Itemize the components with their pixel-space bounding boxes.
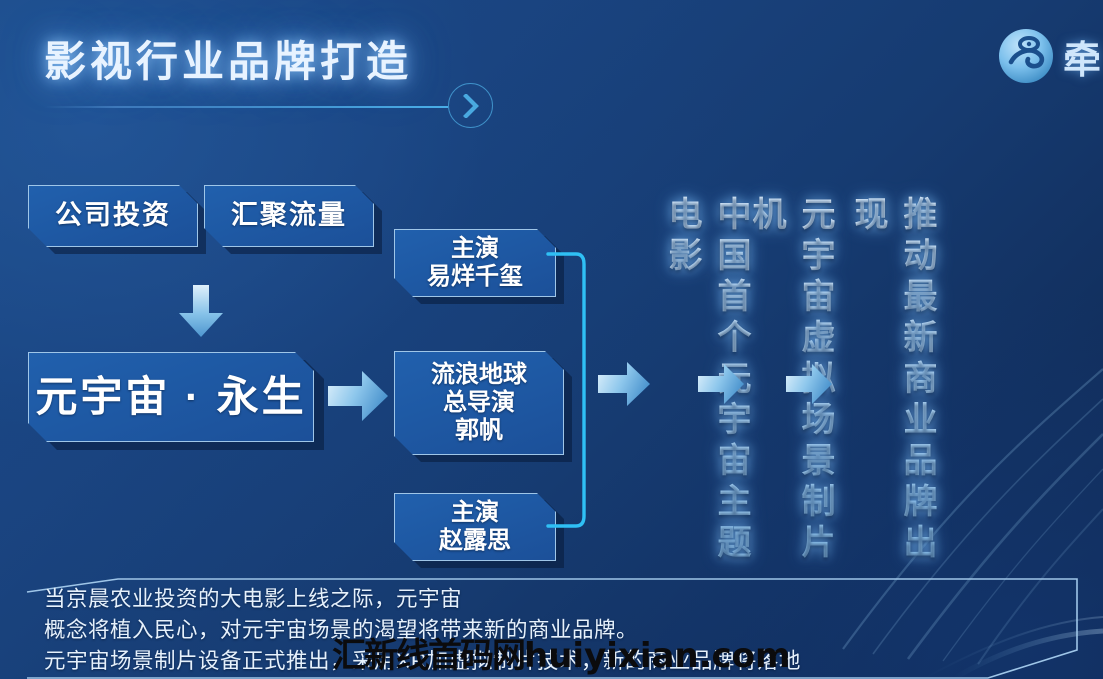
watermark-cn: 汇新线首码网 — [332, 636, 524, 676]
brand-logo: 牵 — [997, 27, 1103, 85]
flow-box-lead-actor-2[interactable]: 主演 赵露思 — [394, 493, 556, 561]
talent-line-1: 主演 — [451, 235, 499, 263]
watermark: 汇新线首码网huiyixian.com — [332, 628, 790, 677]
arrow-right-icon — [786, 362, 834, 406]
talent-line-2: 易烊千玺 — [427, 263, 523, 291]
slide-canvas: 影视行业品牌打造 牵 公司投资 汇聚流量 — [0, 0, 1103, 679]
arrow-right-icon — [328, 368, 390, 424]
talent-line-2: 赵露思 — [439, 527, 511, 555]
arrow-right-icon — [698, 362, 746, 406]
page-title: 影视行业品牌打造 — [44, 28, 412, 89]
flow-box-lead-actor-1[interactable]: 主演 易烊千玺 — [394, 229, 556, 297]
talent-line-1: 流浪地球 — [431, 361, 527, 389]
flow-box-traffic-aggregation[interactable]: 汇聚流量 — [204, 185, 374, 247]
talent-line-3: 郭帆 — [455, 417, 503, 445]
talent-line-2: 总导演 — [443, 389, 515, 417]
chevron-right-icon[interactable] — [463, 94, 481, 118]
flow-box-metaverse-eternal-life[interactable]: 元宇宙 · 永生 — [28, 352, 314, 442]
arrow-right-icon — [598, 360, 652, 408]
flow-box-company-investment[interactable]: 公司投资 — [28, 185, 198, 247]
brand-logo-text: 牵 — [1063, 29, 1103, 84]
title-underline — [44, 106, 448, 108]
bracket-connector-icon — [546, 252, 592, 528]
watermark-url: huiyixian.com — [524, 636, 790, 676]
note-line-1: 当京晨农业投资的大电影上线之际，元宇宙 — [44, 584, 1064, 615]
vertical-column-new-business-brand: 推动最新商业品牌出现 — [844, 196, 942, 568]
talent-line-1: 主演 — [451, 499, 499, 527]
company-globe-logo-icon — [997, 27, 1055, 85]
arrow-down-icon — [172, 283, 230, 341]
flow-box-director[interactable]: 流浪地球 总导演 郭帆 — [394, 351, 564, 455]
